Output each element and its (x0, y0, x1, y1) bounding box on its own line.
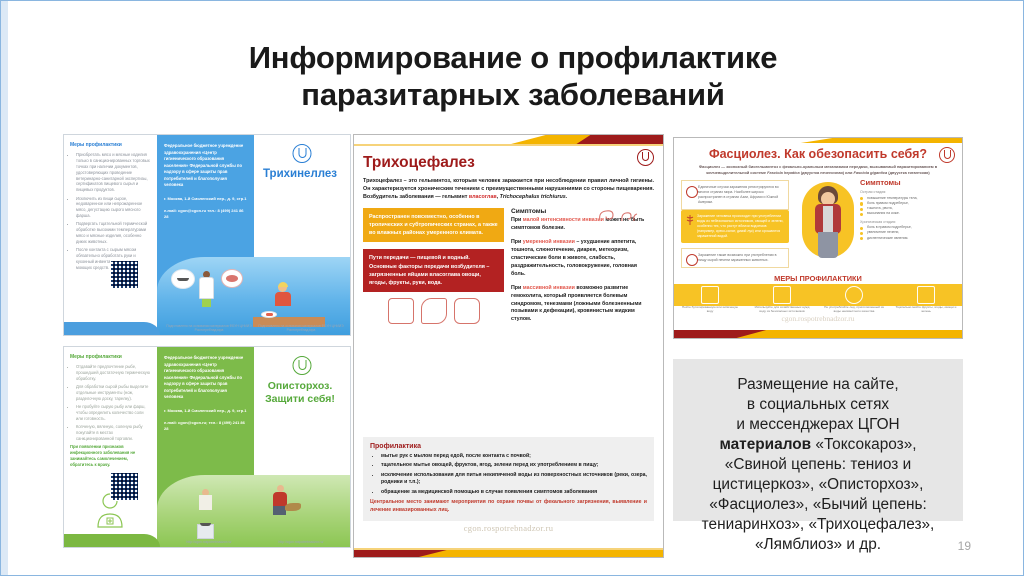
note-line-1: Размещение на сайте, (737, 376, 898, 393)
brochure-opisthorchiasis-org-name: Федеральное бюджетное учреждение здравоо… (164, 355, 247, 401)
tap-wash-icon (917, 286, 935, 304)
fascioliasis-info-box-3: Заражение также возможно при употреблени… (681, 248, 789, 268)
brochure-opisthorchiasis-contacts: e-mail: cgon@cgon.ru; тел.: 8 (499) 241 … (164, 420, 247, 432)
list-item: Исключить из пищи сырое, недоваренное ил… (76, 196, 151, 219)
symptom-lead: При (511, 239, 523, 245)
measure-caption: Тщательно мойте фрукты, ягоды, овощи и з… (890, 305, 962, 314)
people-icon (845, 286, 863, 304)
measure-caption: Пейте бутилированную или кипяченую воду (674, 305, 746, 314)
list-item: Отдавайте предпочтение рыбе, прошедшей д… (76, 364, 151, 381)
note-line-9: «Лямблиоз» и др. (755, 536, 881, 553)
list-item: исключение использования для питья некип… (381, 472, 647, 488)
box-distribution: Распространен повсеместно, особенно в тр… (363, 208, 504, 242)
page-title-line2: паразитарных заболеваний (151, 76, 875, 113)
brochure-trichinella-org-name: Федеральное бюджетное учреждение здравоо… (164, 143, 247, 189)
measure-item-water: Пейте бутилированную или кипяченую воду (674, 285, 746, 314)
brochure-opisthorchiasis[interactable]: Меры профилактики Отдавайте предпочтение… (63, 346, 351, 548)
symptom-lead: При (511, 285, 523, 291)
slide: Информирование о профилактике паразитарн… (0, 0, 1024, 576)
caduceus-icon (685, 215, 695, 225)
cook-illustration (199, 489, 212, 510)
brochure-opisthorchiasis-title: Описторхоз. Защити себя! (254, 380, 346, 405)
brochure-opisthorchiasis-measures-list: Отдавайте предпочтение рыбе, прошедшей д… (70, 364, 151, 442)
poster-trichocephalosis-intro: Трихоцефалез – это гельминтоз, которым ч… (363, 177, 654, 202)
note-line-4-bold: материалов (719, 436, 811, 453)
poster-bottom-decoration (354, 544, 663, 557)
brochure-opisthorchiasis-address: г. Москва, 1-й Смоленский пер., д. 9, ст… (164, 408, 247, 414)
poster-fascioliasis-top-decoration (674, 138, 962, 143)
info-circle-icon (686, 186, 698, 198)
fascioliasis-measures-heading: МЕРЫ ПРОФИЛАКТИКИ (674, 274, 962, 283)
poster-top-decoration (354, 135, 663, 144)
poster-left-column: Распространен повсеместно, особенно в тр… (363, 208, 504, 330)
brochure-opisthorchiasis-note: При появлении признаков инфекционного за… (70, 444, 151, 468)
note-line-7: «Фасциолез», «Бычий цепень: (709, 496, 927, 513)
poster-trichocephalosis-title: Трихоцефалез (363, 155, 654, 171)
brochure-opisthorchiasis-illustration (157, 475, 350, 547)
prevention-box: Профилактика мытье рук с мылом перед едо… (363, 437, 654, 521)
page-title-line1: Информирование о профилактике (249, 40, 778, 75)
house-icon (773, 286, 791, 304)
symptom-block-massive: При массивной инвазии возможно развитие … (511, 285, 652, 325)
note-line-4-rest: «Токсокароз», (811, 436, 916, 453)
symptom-lead: При (511, 217, 523, 223)
list-item: Копченую, вяленую, соленую рыбу покупайт… (76, 424, 151, 441)
symptom-highlight: умеренной инвазии (523, 239, 575, 245)
subtitle-latin-2: Fasciola gigantica (853, 170, 887, 175)
subtitle-latin-1: Fasciola hepatica (767, 170, 799, 175)
fascioliasis-measure-icons: Пейте бутилированную или кипяченую воду … (674, 285, 962, 314)
note-line-2: в социальных сетях (747, 396, 889, 413)
cgon-logo-icon (293, 144, 312, 163)
brochure-trichinella-contacts: e-mail: cgon@cgon.ru тел.: 8 (499) 241 8… (164, 208, 247, 220)
poster-fascioliasis[interactable]: Фасциолез. Как обезопасить себя? Фасциол… (673, 137, 963, 339)
tomato-carrot-icon (454, 298, 480, 324)
worm-icons (596, 208, 642, 223)
list-item: Не пробуйте сырую рыбу или фарш, чтобы о… (76, 404, 151, 421)
fascioliasis-info-box-1: Единичные случаи заражения регистрируютс… (681, 180, 789, 210)
fascioliasis-info-box-2: Заражение человека происходит при употре… (681, 210, 789, 243)
list-item: Подвергать тщательной термической обрабо… (76, 221, 151, 244)
note-line-8: тениаринхоз», «Трихоцефалез», (702, 516, 935, 533)
brochure-trichinella-measures-column: Меры профилактики Приобретать мясо и мяс… (64, 135, 157, 335)
lettuce-icon (421, 298, 447, 324)
liver-icon (686, 254, 698, 266)
brochure-opisthorchiasis-footer-left: http://cgon.rospotrebnadzor.ru/ (164, 540, 254, 545)
brochure-trichinella-measures-heading: Меры профилактики (70, 142, 151, 148)
poster-top-underline (354, 144, 663, 146)
brochure-trichinella-footer-left: Подготовлено на основании материалов ФБУ… (164, 324, 254, 333)
info-box-3-text: Заражение также возможно при употреблени… (698, 253, 776, 262)
measure-item-wash: Тщательно мойте фрукты, ягоды, овощи и з… (890, 285, 962, 314)
stage-acute-label: Острая стадия: (860, 190, 956, 194)
intro-highlight: власоглав (469, 194, 497, 200)
stove-icon (197, 524, 214, 539)
note-text: Размещение на сайте, в социальных сетях … (681, 375, 955, 555)
poster-fascioliasis-bottom-decoration (674, 330, 962, 338)
brochure-trichinella-measures-list: Приобретать мясо и мясные изделия только… (70, 152, 151, 270)
prevention-list: мытье рук с мылом перед едой, после конт… (370, 453, 647, 496)
page-title: Информирование о профилактике паразитарн… (151, 39, 875, 113)
doctor-illustration (199, 271, 214, 307)
cgon-logo-icon (939, 147, 955, 163)
poster-watermark: cgon.rospotrebnadzor.ru (354, 523, 663, 533)
stage-chronic-label: Хроническая стадия: (860, 220, 956, 224)
box-transmission: Пути передачи — пищевой и водный. Основн… (363, 249, 504, 291)
brochure-trichinella-address: г. Москва, 1-й Смоленский пер., д. 9, ст… (164, 196, 247, 202)
brochure-opisthorchiasis-title-line2: Защити себя! (265, 393, 335, 405)
symptom-block-moderate: При умеренной инвазии – ухудшение аппети… (511, 239, 652, 279)
note-line-6: цистицеркоз», «Описторхоз», (713, 476, 924, 493)
info-box-2-text: Заражение человека происходит при употре… (697, 214, 783, 238)
brochure-opisthorchiasis-title-line1: Описторхоз. (268, 380, 333, 392)
list-item: обращение за медицинской помощью в случа… (381, 489, 647, 497)
list-item: диспептические явления. (860, 236, 956, 241)
berry-icon (388, 298, 414, 324)
note-line-5: «Свиной цепень: тениоз и (725, 456, 911, 473)
measure-item-household: Используйте для хозяйственных нужд воду … (746, 285, 818, 314)
thought-bubble-pan-icon (171, 269, 195, 289)
subtitle-part-b: (двуустка печеночная) или (800, 170, 854, 175)
measure-item-ice: Не употребляйте лед, приготовленный из в… (818, 285, 890, 314)
brochure-trichinella-footer-bar (64, 322, 160, 335)
symptom-highlight: малой интенсивности инвазии (523, 217, 604, 223)
note-box: Размещение на сайте, в социальных сетях … (673, 359, 963, 521)
brochure-opisthorchiasis-measures-heading: Меры профилактики (70, 354, 151, 360)
qr-code-icon (110, 260, 139, 289)
symptom-highlight: массивной инвазии (523, 285, 575, 291)
measure-caption: Используйте для хозяйственных нужд воду … (746, 305, 818, 314)
prevention-heading: Профилактика (370, 443, 647, 450)
poster-right-column: Симптомы При малой интенсивности инвазии… (511, 208, 652, 330)
fish-icon (285, 503, 301, 511)
list-item: Приобретать мясо и мясные изделия только… (76, 152, 151, 193)
vegetable-icons-row (363, 298, 504, 324)
fascioliasis-symptoms-heading: Симптомы (860, 178, 956, 187)
poster-trichocephalosis[interactable]: Трихоцефалез Трихоцефалез – это гельминт… (353, 134, 664, 558)
brochure-trichinella-title: Трихинеллез (254, 168, 346, 182)
brochure-trichinella[interactable]: Меры профилактики Приобретать мясо и мяс… (63, 134, 351, 336)
woman-illustration (802, 178, 854, 268)
note-line-3: и мессенджерах ЦГОН (736, 416, 899, 433)
plate-icon (261, 311, 277, 318)
poster-fascioliasis-title: Фасциолез. Как обезопасить себя? (674, 147, 962, 161)
measure-caption: Не употребляйте лед, приготовленный из в… (818, 305, 890, 314)
info-box-1-text: Единичные случаи заражения регистрируютс… (698, 185, 779, 204)
poster-fascioliasis-watermark: cgon.rospotrebnadzor.ru (674, 314, 962, 323)
page-number: 19 (958, 539, 971, 553)
cgon-logo-icon (293, 356, 312, 375)
qr-code-icon (110, 472, 139, 501)
brochure-opisthorchiasis-footer-right: http://cgon.rospotrebnadzor.ru/ (256, 540, 346, 545)
slide-left-stripe (1, 1, 8, 575)
intro-latin-name: Trichocephalus trichiurus. (500, 194, 568, 200)
list-item: высыпания на коже. (860, 211, 956, 216)
list-item: мытье рук с мылом перед едой, после конт… (381, 453, 647, 461)
subtitle-part-c: (двуустка гигантская) (887, 170, 929, 175)
poster-fascioliasis-subtitle: Фасциолез — зоонозный биогельминтоз с фе… (683, 164, 953, 176)
brochure-opisthorchiasis-measures-column: Меры профилактики Отдавайте предпочтение… (64, 347, 157, 547)
fascioliasis-symptoms: Симптомы Острая стадия: повышение темпер… (860, 178, 956, 241)
thought-bubble-no-raw-meat-icon (221, 269, 243, 288)
brochure-opisthorchiasis-footer-bar (64, 534, 160, 547)
bottle-icon (701, 286, 719, 304)
list-item: тщательное мытье овощей, фруктов, ягод, … (381, 462, 647, 470)
prevention-note: Центральное место занимают мероприятия п… (370, 499, 647, 515)
list-item: Для обработки сырой рыбы выделите отдель… (76, 384, 151, 401)
brochure-trichinella-footer-right: Подготовлено на основании материалов ФБУ… (256, 324, 346, 333)
boy-eating-illustration (275, 283, 291, 306)
